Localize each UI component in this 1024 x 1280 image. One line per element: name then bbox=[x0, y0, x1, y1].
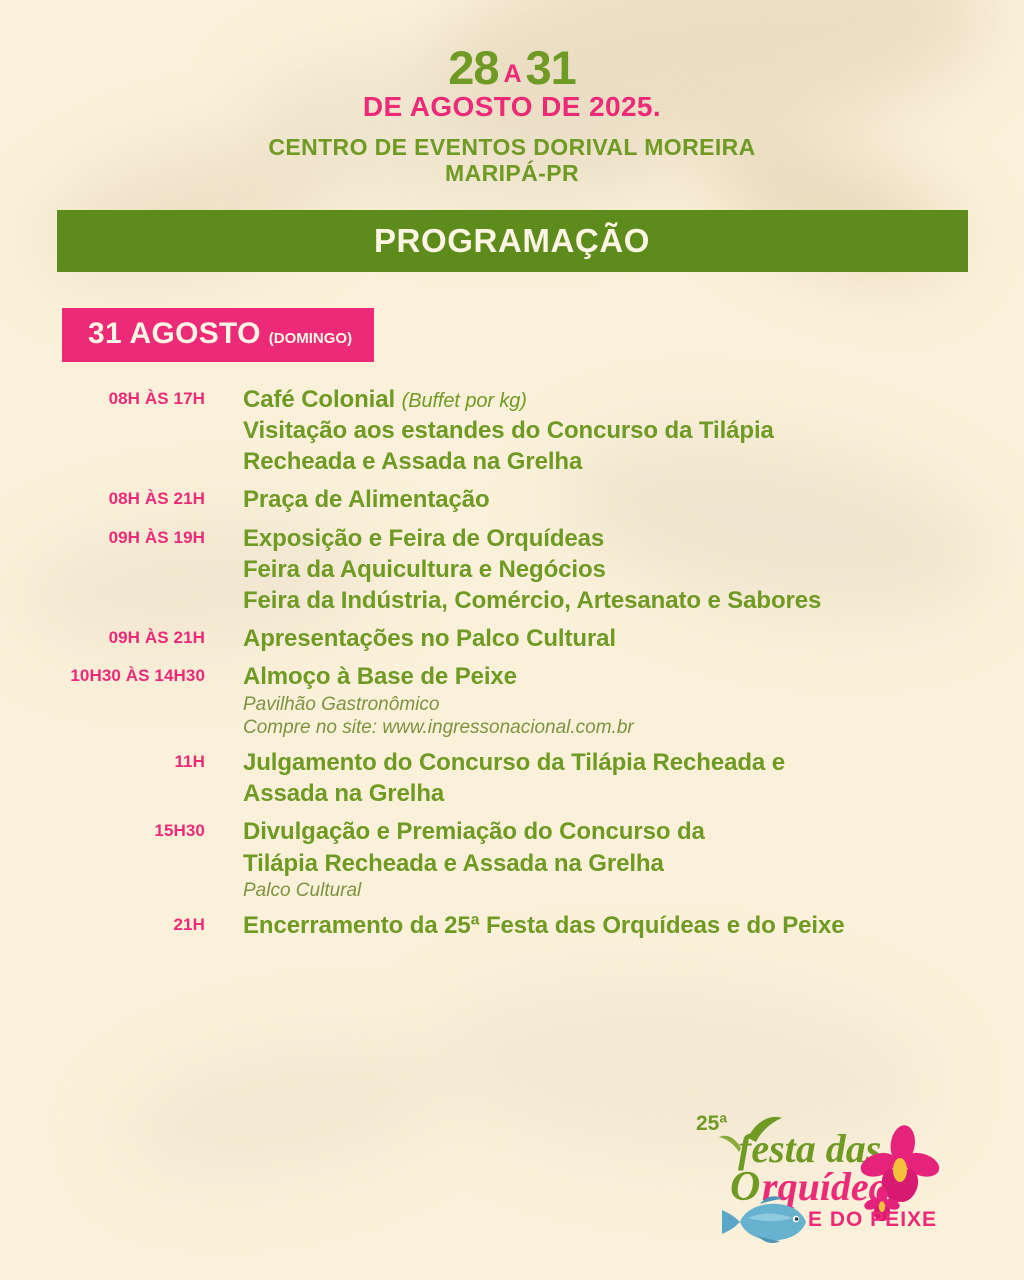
logo-line-e-do-peixe: E DO PEIXE bbox=[808, 1208, 937, 1231]
entry-line: Julgamento do Concurso da Tilápia Rechea… bbox=[243, 747, 785, 778]
entry-line: Feira da Aquicultura e Negócios bbox=[243, 554, 821, 585]
entry-line: Almoço à Base de Peixe bbox=[243, 661, 634, 692]
entry-body: Julgamento do Concurso da Tilápia Rechea… bbox=[205, 747, 785, 809]
date-separator: A bbox=[503, 60, 520, 88]
poster-header: 28A31 DE AGOSTO DE 2025. CENTRO DE EVENT… bbox=[0, 0, 1024, 188]
date-end: 31 bbox=[526, 41, 576, 94]
entry-line: Feira da Indústria, Comércio, Artesanato… bbox=[243, 585, 821, 616]
entry-line: Apresentações no Palco Cultural bbox=[243, 623, 616, 654]
entry-time: 08H ÀS 17H bbox=[0, 384, 205, 409]
banner-title: PROGRAMAÇÃO bbox=[374, 222, 650, 260]
entry-line: Assada na Grelha bbox=[243, 778, 785, 809]
entry-line-note: (Buffet por kg) bbox=[402, 390, 527, 412]
schedule-entry: 21HEncerramento da 25ª Festa das Orquíde… bbox=[0, 910, 1024, 941]
entry-subtitle: Compre no site: www.ingressonacional.com… bbox=[243, 716, 634, 740]
entry-line-text: Tilápia Recheada e Assada na Grelha bbox=[243, 850, 664, 877]
entry-line: Café Colonial (Buffet por kg) bbox=[243, 384, 774, 415]
entry-body: Praça de Alimentação bbox=[205, 484, 490, 515]
entry-line-text: Exposição e Feira de Orquídeas bbox=[243, 525, 604, 552]
entry-line-text: Assada na Grelha bbox=[243, 780, 444, 807]
entry-line-text: Recheada e Assada na Grelha bbox=[243, 448, 582, 475]
entry-subtitle: Pavilhão Gastronômico bbox=[243, 693, 634, 717]
entry-line-text: Julgamento do Concurso da Tilápia Rechea… bbox=[243, 749, 785, 776]
schedule-entry: 09H ÀS 21HApresentações no Palco Cultura… bbox=[0, 623, 1024, 654]
entry-body: Café Colonial (Buffet por kg)Visitação a… bbox=[205, 384, 774, 478]
entry-subtitle: Palco Cultural bbox=[243, 879, 705, 903]
schedule-entry: 08H ÀS 21HPraça de Alimentação bbox=[0, 484, 1024, 515]
entry-line-text: Almoço à Base de Peixe bbox=[243, 663, 517, 690]
day-badge-date: 31 AGOSTO bbox=[88, 317, 261, 351]
entry-body: Exposição e Feira de OrquídeasFeira da A… bbox=[205, 523, 821, 617]
entry-line: Praça de Alimentação bbox=[243, 484, 490, 515]
entry-line-text: Praça de Alimentação bbox=[243, 486, 490, 513]
entry-line: Visitação aos estandes do Concurso da Ti… bbox=[243, 415, 774, 446]
entry-time: 15H30 bbox=[0, 816, 205, 841]
event-city: MARIPÁ-PR bbox=[0, 160, 1024, 188]
entry-line-text: Feira da Aquicultura e Negócios bbox=[243, 556, 606, 583]
event-date-range: 28A31 bbox=[0, 44, 1024, 91]
programacao-banner: PROGRAMAÇÃO bbox=[57, 210, 968, 272]
entry-time: 09H ÀS 19H bbox=[0, 523, 205, 548]
festa-das-orquideas-logo: 25ª festa das O rquídeas bbox=[686, 1104, 954, 1244]
svg-text:O: O bbox=[730, 1164, 760, 1210]
schedule-entry: 09H ÀS 19HExposição e Feira de Orquídeas… bbox=[0, 523, 1024, 617]
entry-line: Exposição e Feira de Orquídeas bbox=[243, 523, 821, 554]
entry-line-text: Visitação aos estandes do Concurso da Ti… bbox=[243, 417, 774, 444]
entry-time: 09H ÀS 21H bbox=[0, 623, 205, 648]
entry-line-text: Divulgação e Premiação do Concurso da bbox=[243, 818, 705, 845]
schedule-entry: 10H30 ÀS 14H30Almoço à Base de PeixePavi… bbox=[0, 661, 1024, 740]
entry-line-text: Feira da Indústria, Comércio, Artesanato… bbox=[243, 587, 821, 614]
entry-line-text: Apresentações no Palco Cultural bbox=[243, 625, 616, 652]
entry-line: Encerramento da 25ª Festa das Orquídeas … bbox=[243, 910, 844, 941]
event-month-year: DE AGOSTO DE 2025. bbox=[0, 92, 1024, 123]
event-venue: CENTRO DE EVENTOS DORIVAL MOREIRA bbox=[0, 134, 1024, 160]
entry-line-text: Encerramento da 25ª Festa das Orquídeas … bbox=[243, 912, 844, 939]
entry-time: 21H bbox=[0, 910, 205, 935]
schedule-entry: 08H ÀS 17HCafé Colonial (Buffet por kg)V… bbox=[0, 384, 1024, 478]
schedule-list: 08H ÀS 17HCafé Colonial (Buffet por kg)V… bbox=[0, 384, 1024, 941]
entry-line: Tilápia Recheada e Assada na Grelha bbox=[243, 848, 705, 879]
entry-time: 10H30 ÀS 14H30 bbox=[0, 661, 205, 686]
entry-body: Apresentações no Palco Cultural bbox=[205, 623, 616, 654]
day-badge-weekday: (DOMINGO) bbox=[269, 330, 352, 347]
date-start: 28 bbox=[448, 41, 498, 94]
entry-body: Encerramento da 25ª Festa das Orquídeas … bbox=[205, 910, 844, 941]
entry-line: Recheada e Assada na Grelha bbox=[243, 446, 774, 477]
schedule-entry: 15H30Divulgação e Premiação do Concurso … bbox=[0, 816, 1024, 902]
entry-line-text: Café Colonial bbox=[243, 386, 395, 413]
entry-time: 08H ÀS 21H bbox=[0, 484, 205, 509]
schedule-entry: 11HJulgamento do Concurso da Tilápia Rec… bbox=[0, 747, 1024, 809]
logo-edition: 25ª bbox=[696, 1112, 727, 1135]
entry-body: Divulgação e Premiação do Concurso daTil… bbox=[205, 816, 705, 902]
poster-page: 28A31 DE AGOSTO DE 2025. CENTRO DE EVENT… bbox=[0, 0, 1024, 1280]
entry-time: 11H bbox=[0, 747, 205, 772]
entry-body: Almoço à Base de PeixePavilhão Gastronôm… bbox=[205, 661, 634, 740]
day-badge: 31 AGOSTO (DOMINGO) bbox=[62, 308, 374, 362]
entry-line: Divulgação e Premiação do Concurso da bbox=[243, 816, 705, 847]
